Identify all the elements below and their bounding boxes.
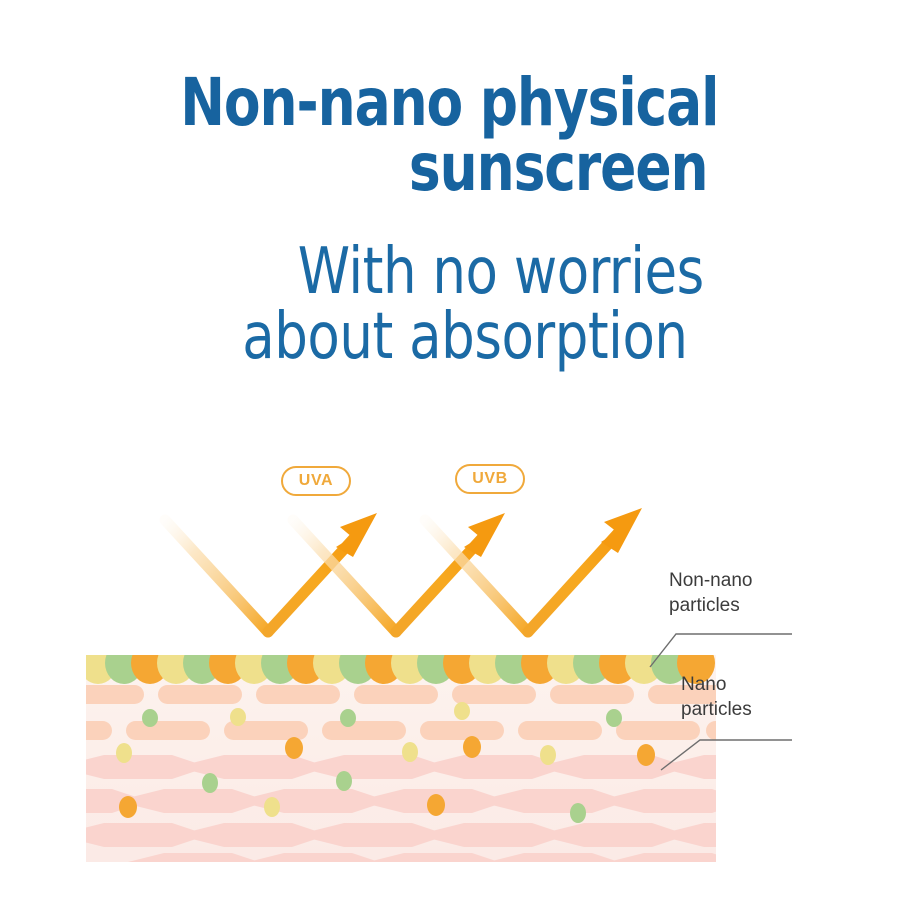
callout-leader-lines	[0, 0, 904, 903]
callout-non-nano-particles: Non-nano particles	[669, 568, 752, 618]
callout-non-nano-line-1: Non-nano	[669, 568, 752, 593]
callout-nano-line-2: particles	[681, 697, 752, 722]
leader-line-non-nano	[650, 634, 792, 667]
callout-non-nano-line-2: particles	[669, 593, 752, 618]
callout-nano-line-1: Nano	[681, 672, 752, 697]
infographic-canvas: Non-nano physical sunscreen With no worr…	[0, 0, 904, 903]
leader-line-nano	[661, 740, 792, 770]
callout-nano-particles: Nano particles	[681, 672, 752, 722]
